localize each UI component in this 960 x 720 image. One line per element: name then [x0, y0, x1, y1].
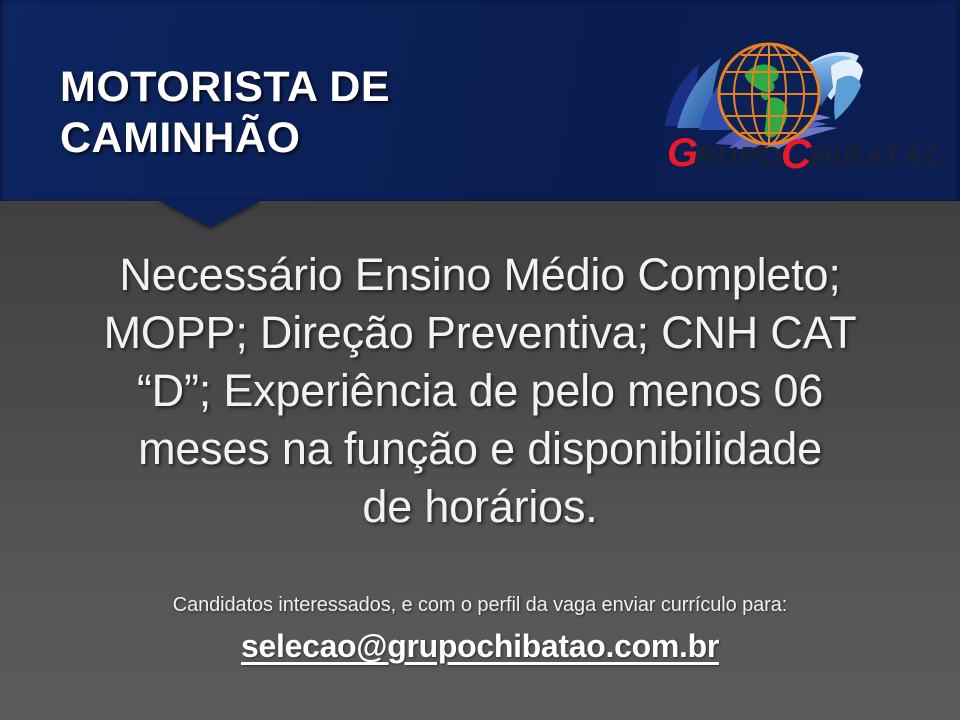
- page-title: MOTORISTA DE CAMINHÃO: [60, 62, 620, 163]
- globe-icon: [719, 44, 819, 144]
- contact-email-link[interactable]: selecao@grupochibatao.com.br: [241, 626, 719, 666]
- logo-wordmark: G RUPO C HIBATÃO: [667, 130, 940, 176]
- job-posting-slide: MOTORISTA DE CAMINHÃO: [0, 0, 960, 720]
- footer: Candidatos interessados, e com o perfil …: [30, 592, 930, 666]
- logo-c-letter: C: [781, 130, 812, 176]
- logo-grupo-text: RUPO: [695, 141, 782, 172]
- logo-g-letter: G: [667, 131, 698, 175]
- header-notch-pointer: [158, 200, 262, 228]
- logo-chibatao-text: HIBATÃO: [811, 141, 940, 172]
- application-instruction: Candidatos interessados, e com o perfil …: [30, 592, 930, 618]
- grupo-chibatao-logo: G RUPO C HIBATÃO: [655, 26, 940, 176]
- job-requirements-text: Necessário Ensino Médio Completo; MOPP; …: [30, 246, 930, 536]
